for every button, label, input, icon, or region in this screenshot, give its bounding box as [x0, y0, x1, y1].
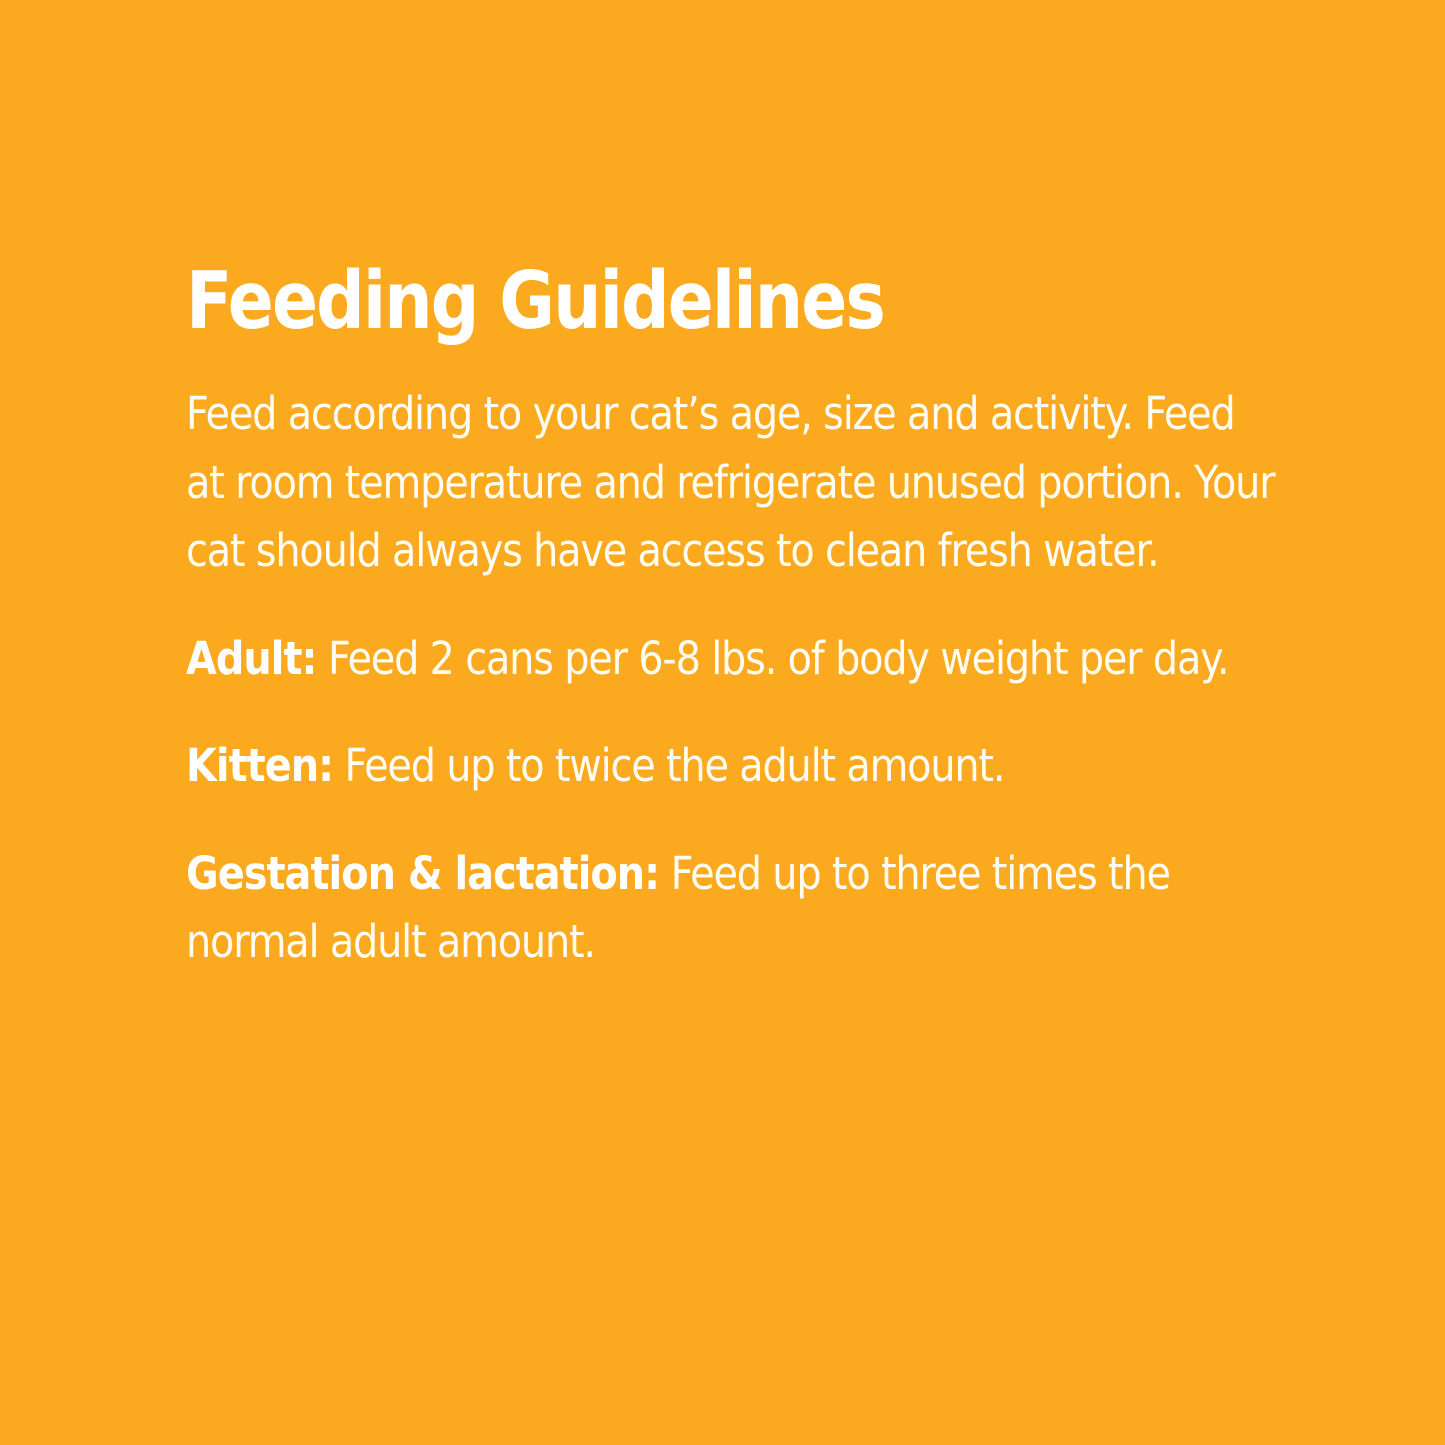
guideline-row-gestation-lactation: Gestation & lactation: Feed up to three … — [186, 840, 1279, 977]
guideline-label-adult: Adult: — [186, 632, 316, 685]
feeding-intro-paragraph: Feed according to your cat’s age, size a… — [186, 380, 1279, 586]
content-column: Feeding Guidelines Feed according to you… — [186, 258, 1276, 977]
guideline-row-kitten: Kitten: Feed up to twice the adult amoun… — [186, 732, 1279, 801]
guideline-text-adult: Feed 2 cans per 6-8 lbs. of body weight … — [328, 632, 1228, 685]
guideline-row-adult: Adult: Feed 2 cans per 6-8 lbs. of body … — [186, 625, 1279, 694]
page-title: Feeding Guidelines — [186, 258, 1123, 344]
guideline-text-kitten: Feed up to twice the adult amount. — [345, 739, 1005, 792]
guideline-label-kitten: Kitten: — [186, 739, 333, 792]
guideline-label-gestation-lactation: Gestation & lactation: — [186, 847, 659, 900]
feeding-guidelines-panel: Feeding Guidelines Feed according to you… — [0, 0, 1445, 1445]
